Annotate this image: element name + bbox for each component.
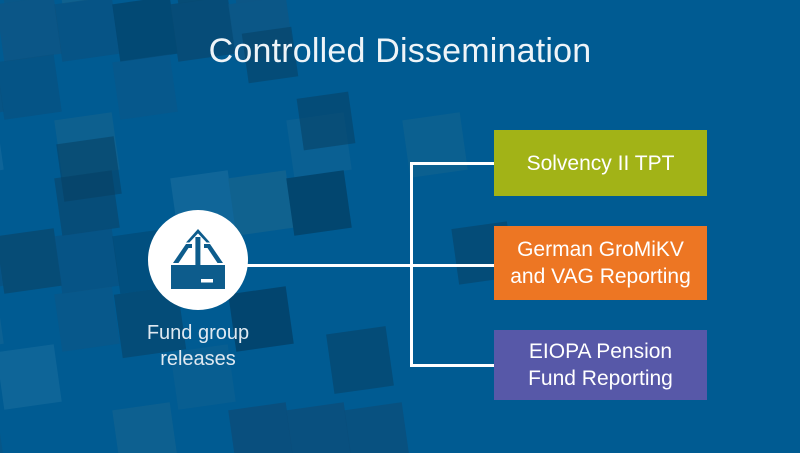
connector-branch-3 bbox=[410, 364, 496, 367]
connector-branch-2 bbox=[410, 264, 496, 267]
destination-box-eiopa-pension-fund-reporting[interactable]: EIOPA Pension Fund Reporting bbox=[494, 330, 707, 400]
source-icon-circle bbox=[148, 210, 248, 310]
destination-box-german-gromikv-vag-reporting[interactable]: German GroMiKV and VAG Reporting bbox=[494, 226, 707, 300]
destination-box-solvency-ii-tpt[interactable]: Solvency II TPT bbox=[494, 130, 707, 196]
connector-stem bbox=[228, 264, 413, 267]
connector-branch-1 bbox=[410, 162, 496, 165]
destination-label: Solvency II TPT bbox=[527, 150, 675, 177]
slide-canvas: Controlled Dissemination bbox=[0, 0, 800, 453]
source-label: Fund group releases bbox=[118, 320, 278, 372]
destination-label: German GroMiKV and VAG Reporting bbox=[510, 236, 691, 290]
destination-label: EIOPA Pension Fund Reporting bbox=[528, 338, 673, 392]
